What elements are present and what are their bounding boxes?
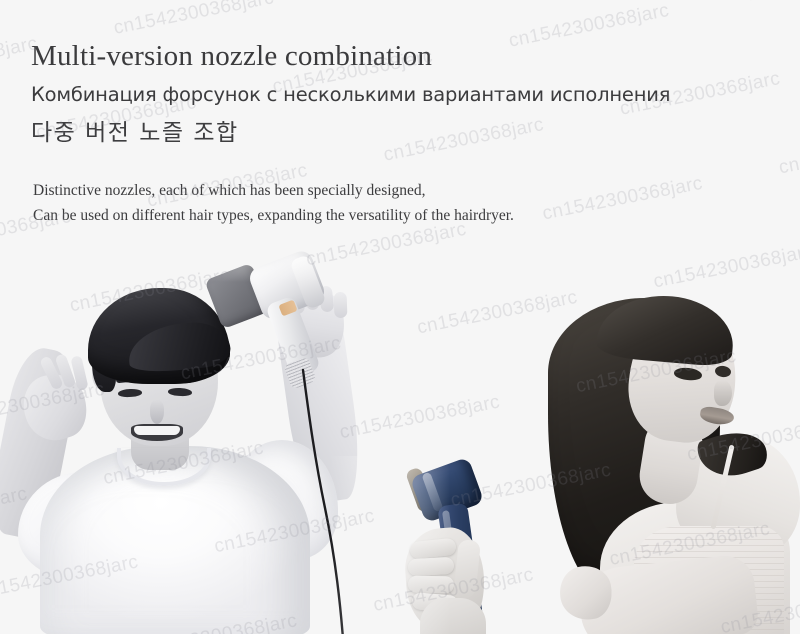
watermark-text: cn1542300368jarc	[541, 173, 705, 226]
product-feature-banner: Multi-version nozzle combination Комбина…	[0, 0, 800, 634]
description-block: Distinctive nozzles, each of which has b…	[33, 178, 514, 228]
watermark-text: cn1542300368jarc	[507, 0, 671, 53]
man-teeth	[134, 426, 180, 435]
watermark-text: cn1542300368jarc	[743, 0, 800, 7]
page-title-korean: 다중 버전 노즐 조합	[31, 113, 239, 147]
photo-woman-with-hair	[524, 286, 800, 634]
woman-nose	[714, 380, 732, 406]
description-line-1: Distinctive nozzles, each of which has b…	[33, 178, 514, 203]
blue-hairdryer-photo	[400, 466, 560, 634]
description-line-2: Can be used on different hair types, exp…	[33, 203, 514, 228]
man-mouth	[131, 424, 183, 441]
page-title-english: Multi-version nozzle combination	[31, 40, 432, 73]
watermark-row: cn1542300368jarccn1542300368jarccn154230…	[0, 0, 800, 18]
man-nose	[150, 400, 164, 424]
hand-finger	[408, 576, 454, 594]
photo-stage	[0, 228, 800, 634]
holding-forearm	[420, 598, 486, 634]
power-cord	[295, 368, 415, 634]
hand-finger	[408, 557, 455, 576]
watermark-text: cn1542300368jarc	[382, 114, 546, 167]
watermark-text: cn1542300368jarc	[777, 127, 800, 180]
watermark-text: cn1542300368jarc	[112, 0, 276, 40]
page-title-russian: Комбинация форсунок с несколькими вариан…	[31, 83, 670, 106]
